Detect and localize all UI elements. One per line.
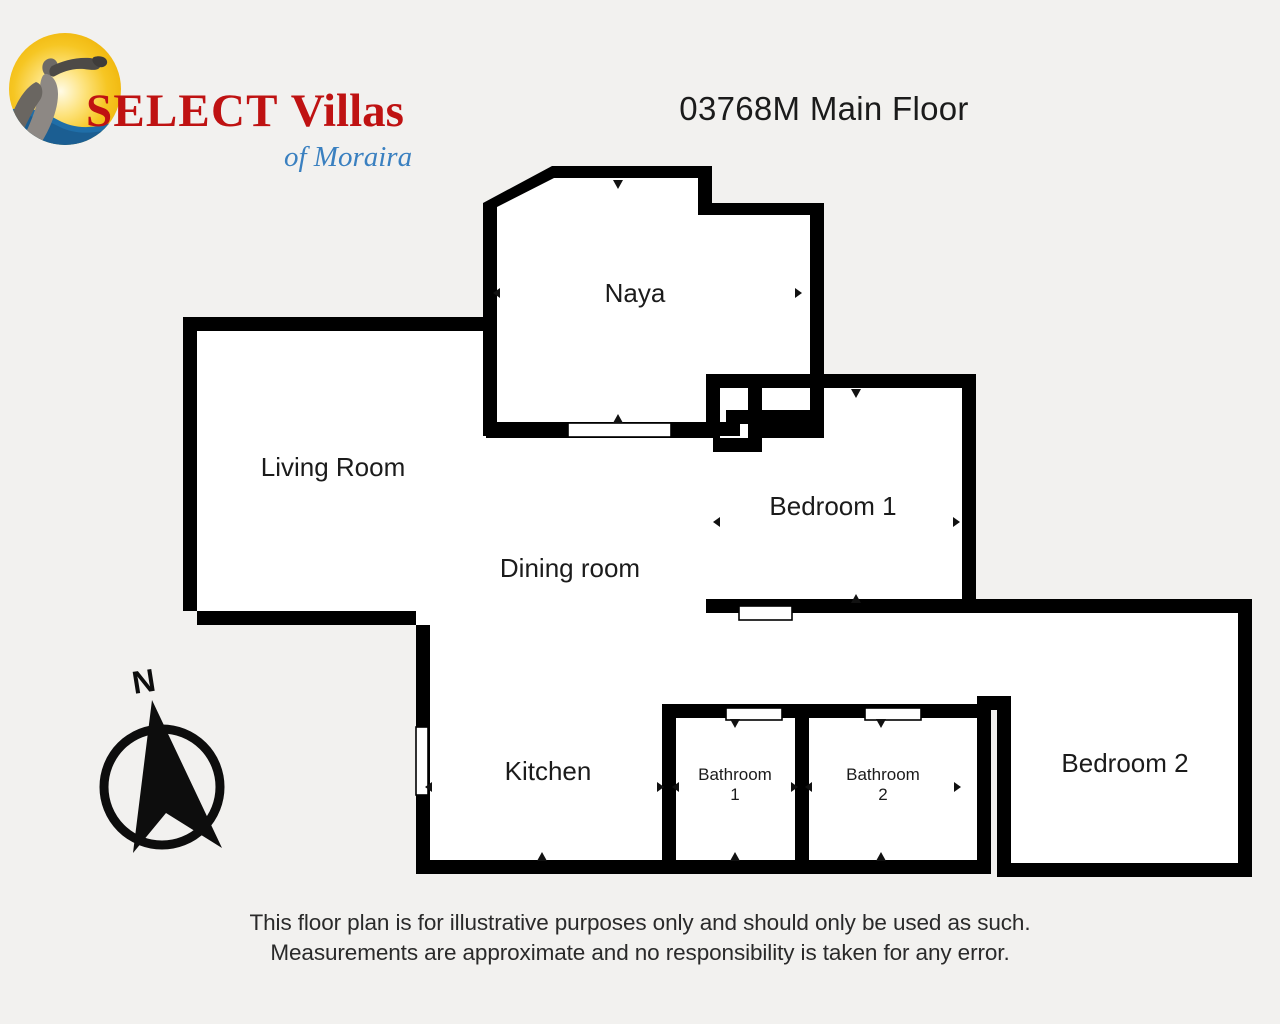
window-naya-south: [568, 423, 671, 437]
door-bathroom2-north: [865, 708, 921, 720]
window-kitchen-west: [416, 727, 428, 795]
floorplan-drawing: N: [0, 0, 1280, 1024]
disclaimer-line-2: Measurements are approximate and no resp…: [0, 938, 1280, 968]
wall-bed1-notch-top: [706, 374, 762, 388]
wall-bathroom-divider: [795, 704, 809, 874]
disclaimer-line-1: This floor plan is for illustrative purp…: [0, 908, 1280, 938]
disclaimer: This floor plan is for illustrative purp…: [0, 908, 1280, 969]
north-arrow-compass-icon: N: [104, 662, 222, 853]
door-bathroom1-north: [726, 708, 782, 720]
door-bedroom1-south: [739, 606, 792, 620]
compass-north-label: N: [129, 662, 157, 701]
